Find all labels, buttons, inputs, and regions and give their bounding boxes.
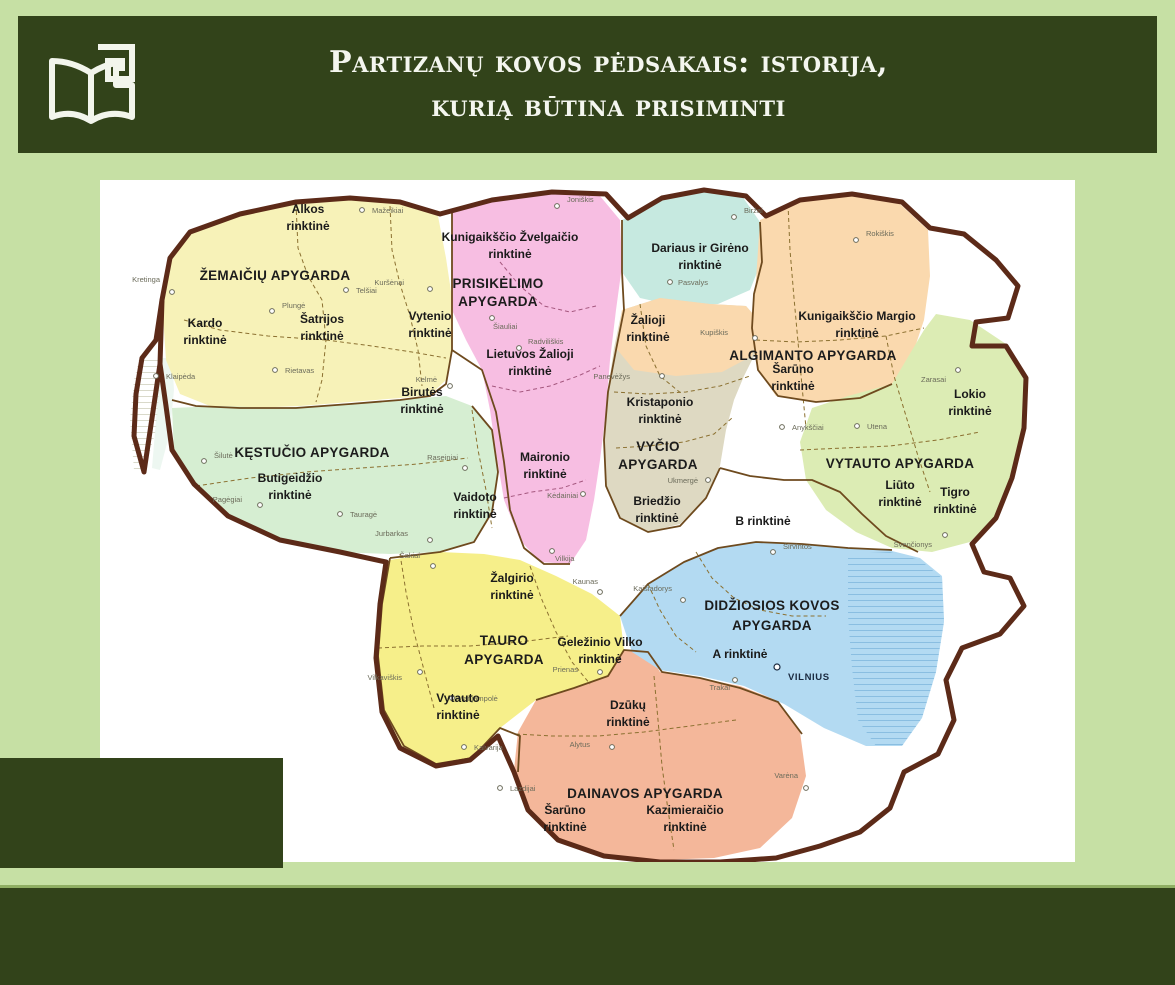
city-label: Kaišiadorys (633, 584, 672, 593)
city-label: Tauragė (350, 510, 377, 519)
city-dot (270, 309, 275, 314)
city-label: Šilutė (214, 451, 233, 460)
city-label: Kelmė (416, 375, 437, 384)
header-banner: Partizanų kovos pėdsakais: istorija, kur… (18, 16, 1157, 153)
city-label: Varėna (774, 771, 798, 780)
rinktine-label: Kunigaikščio Žvelgaičio (442, 229, 579, 244)
rinktine-label: rinktinė (400, 402, 444, 416)
rinktine-label: rinktinė (606, 715, 650, 729)
city-label: Panevėžys (593, 372, 630, 381)
city-label: Švenčionys (894, 540, 933, 549)
rinktine-label: rinktinė (488, 247, 532, 261)
rinktine-label: rinktinė (635, 511, 679, 525)
city-label: Plungė (282, 301, 305, 310)
district-kestucio[interactable] (172, 396, 498, 554)
rinktine-label: Vytauto (436, 691, 480, 705)
city-label: Raseiniai (427, 453, 458, 462)
city-dot (448, 384, 453, 389)
city-label: Kaunas (573, 577, 599, 586)
city-dot (428, 538, 433, 543)
rinktine-label: rinktinė (268, 488, 312, 502)
rinktine-label: rinktinė (948, 404, 992, 418)
rinktine-label: Butigeidžio (258, 471, 323, 485)
city-dot (581, 492, 586, 497)
rinktine-label: Kunigaikščio Margio (798, 309, 915, 323)
rinktine-label: rinktinė (408, 326, 452, 340)
city-dot (753, 336, 758, 341)
city-label: Alytus (570, 740, 591, 749)
apygarda-label-prisikelimo2: APYGARDA (458, 294, 538, 309)
city-label: Šiauliai (493, 322, 518, 331)
city-label: Lazdijai (510, 784, 536, 793)
rinktine-label: Dariaus ir Girėno (651, 241, 748, 255)
rinktine-label: Šarūno (772, 361, 813, 376)
decorative-footer-bar (0, 888, 1175, 985)
page-title-line-2: kurią būtina prisiminti (431, 85, 786, 129)
city-dot (462, 745, 467, 750)
city-dot (170, 290, 175, 295)
rinktine-label: Geležinio Vilko (557, 635, 642, 649)
rinktine-label: Kristaponio (627, 395, 694, 409)
city-label: Prienas (553, 665, 579, 674)
rinktine-label: Vaidoto (453, 490, 496, 504)
city-dot (804, 786, 809, 791)
rinktine-label: Žalgirio (490, 570, 533, 585)
city-label: Klaipėda (166, 372, 196, 381)
city-dot (498, 786, 503, 791)
city-dot (550, 549, 555, 554)
rinktine-label: Birutės (401, 385, 443, 399)
city-dot (360, 208, 365, 213)
rinktine-label: Kardo (188, 316, 223, 330)
rinktine-label: rinktinė (543, 820, 587, 834)
city-dot (598, 590, 603, 595)
decorative-dark-block (0, 758, 283, 868)
city-label: Kalvarija (474, 743, 504, 752)
rinktine-label: rinktinė (436, 708, 480, 722)
rinktine-label: Liūto (885, 478, 914, 492)
rinktine-label: Šarūno (544, 802, 585, 817)
city-dot (490, 316, 495, 321)
page-title-line-1: Partizanų kovos pėdsakais: istorija, (329, 41, 888, 85)
city-dot (668, 280, 673, 285)
city-label: Zarasai (921, 375, 946, 384)
city-dot (733, 678, 738, 683)
city-label: Biržai (744, 206, 763, 215)
city-label: Kretinga (132, 275, 161, 284)
city-label: Kuršėnai (374, 278, 404, 287)
city-label: Vilkaviškis (368, 673, 403, 682)
page-root: Partizanų kovos pėdsakais: istorija, kur… (0, 0, 1175, 985)
city-label: Pasvalys (678, 278, 708, 287)
apygarda-label-dainavos: DAINAVOS APYGARDA (567, 786, 723, 801)
capital-label: VILNIUS (788, 672, 830, 683)
city-dot (428, 287, 433, 292)
rinktine-label: rinktinė (578, 652, 622, 666)
city-dot (273, 368, 278, 373)
rinktine-label: rinktinė (508, 364, 552, 378)
city-dot (771, 550, 776, 555)
rinktine-label: Dzūkų (610, 698, 646, 712)
apygarda-label-tauro: TAURO (480, 633, 529, 648)
rinktine-label: rinktinė (300, 329, 344, 343)
city-label: Širvintos (783, 542, 812, 551)
apygarda-label-vycio2: APYGARDA (618, 457, 698, 472)
apygarda-label-kestucio: KĘSTUČIO APYGARDA (234, 445, 389, 460)
open-book-icon (44, 37, 140, 133)
city-dot (780, 425, 785, 430)
rinktine-label: rinktinė (626, 330, 670, 344)
apygarda-label-algimanto: ALGIMANTO APYGARDA (729, 348, 896, 363)
rinktine-label: Alkos (292, 202, 325, 216)
city-dot (418, 670, 423, 675)
city-label: Šakiai (400, 551, 421, 560)
city-label: Ukmergė (668, 476, 698, 485)
city-dot (681, 598, 686, 603)
apygarda-label-vytauto: VYTAUTO APYGARDA (826, 456, 975, 471)
rinktine-label: rinktinė (638, 412, 682, 426)
rinktine-label: Šatrijos (300, 311, 344, 326)
city-label: Kėdainiai (547, 491, 578, 500)
city-dot (610, 745, 615, 750)
city-dot (344, 288, 349, 293)
apygarda-label-tauro2: APYGARDA (464, 652, 544, 667)
rinktine-label: rinktinė (678, 258, 722, 272)
city-dot (598, 670, 603, 675)
apygarda-label-didziosios: DIDŽIOSIOS KOVOS (704, 598, 839, 613)
city-dot (555, 204, 560, 209)
city-dot (154, 374, 159, 379)
rinktine-label: rinktinė (183, 333, 227, 347)
rinktine-label: rinktinė (523, 467, 567, 481)
rinktine-label: Kazimieraičio (646, 803, 723, 817)
city-dot (943, 533, 948, 538)
header-title-block: Partizanų kovos pėdsakais: istorija, kur… (150, 41, 1157, 128)
city-label: Rietavas (285, 366, 314, 375)
rinktine-label: rinktinė (490, 588, 534, 602)
city-dot (854, 238, 859, 243)
city-label: Jurbarkas (375, 529, 408, 538)
rinktine-label: rinktinė (933, 502, 977, 516)
city-dot (732, 215, 737, 220)
rinktine-label: Briedžio (633, 494, 680, 508)
rinktine-label: rinktinė (286, 219, 330, 233)
city-dot (202, 459, 207, 464)
city-label: Utena (867, 422, 888, 431)
city-label: Joniškis (567, 195, 594, 204)
rinktine-label: Vytenio (409, 309, 452, 323)
city-dot (463, 466, 468, 471)
capital-dot (774, 664, 780, 670)
city-label: Radviliškis (528, 337, 564, 346)
apygarda-label-vycio: VYČIO (636, 439, 680, 454)
city-dot (431, 564, 436, 569)
rinktine-label: Žalioji (631, 312, 666, 327)
city-dot (855, 424, 860, 429)
city-dot (258, 503, 263, 508)
rinktine-label: B rinktinė (735, 514, 791, 528)
rinktine-label: Lokio (954, 387, 986, 401)
rinktine-label: A rinktinė (713, 647, 768, 661)
city-dot (956, 368, 961, 373)
city-label: Trakai (709, 683, 730, 692)
apygarda-label-didziosios2: APYGARDA (732, 618, 812, 633)
city-label: Kupiškis (700, 328, 728, 337)
rinktine-label: rinktinė (453, 507, 497, 521)
apygarda-label-prisikelimo: PRISIKĖLIMO (452, 276, 543, 291)
apygarda-label-zemaiciu: ŽEMAIČIŲ APYGARDA (200, 268, 351, 283)
city-label: Rokiškis (866, 229, 894, 238)
rinktine-label: Tigro (940, 485, 970, 499)
city-label: Telšiai (356, 286, 377, 295)
city-label: Anykščiai (792, 423, 824, 432)
city-dot (660, 374, 665, 379)
city-label: Vilkija (555, 554, 575, 563)
rinktine-label: rinktinė (663, 820, 707, 834)
city-dot (338, 512, 343, 517)
rinktine-label: rinktinė (771, 379, 815, 393)
rinktine-label: rinktinė (835, 326, 879, 340)
city-label: Mažeikiai (372, 206, 404, 215)
rinktine-label: Lietuvos Žalioji (486, 346, 573, 361)
city-label: Pagėgiai (213, 495, 243, 504)
rinktine-label: rinktinė (878, 495, 922, 509)
city-dot (706, 478, 711, 483)
rinktine-label: Maironio (520, 450, 570, 464)
